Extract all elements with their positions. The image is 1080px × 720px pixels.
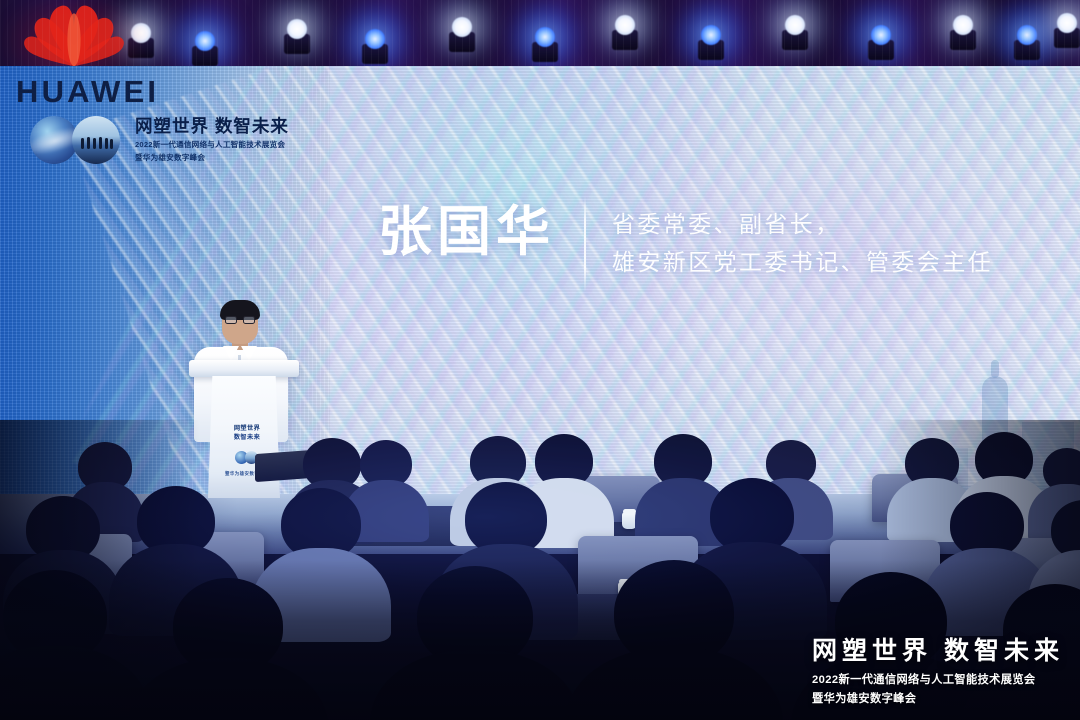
stage-spotlight-icon [610, 10, 640, 40]
huawei-petal-logo-icon [16, 2, 132, 68]
stage-spotlight-icon [190, 26, 220, 56]
stage-spotlight-icon [866, 20, 896, 50]
stage-spotlight-icon [1052, 8, 1080, 38]
stage-spotlight-icon [696, 20, 726, 50]
stage-spotlight-icon [780, 10, 810, 40]
huawei-logo-glow [4, 0, 144, 72]
event-photo-stage: HUAWEI 网塑世界 数智未来 2022新一代通信网络与人工智能技术展览会 暨… [0, 0, 1080, 720]
name-title-divider [584, 196, 586, 292]
event-logo-subtitle-1: 2022新一代通信网络与人工智能技术展览会 [135, 139, 289, 150]
speaker-title-line-1: 省委常委、副省长， [612, 206, 993, 244]
stage-spotlight-icon [126, 18, 156, 48]
podium-top [189, 360, 299, 377]
globe-network-orb-icon [30, 116, 78, 164]
event-logo-subtitle-2: 暨华为雄安数字峰会 [135, 152, 289, 163]
watermark-subtitle-1: 2022新一代通信网络与人工智能技术展览会 [812, 671, 1064, 687]
stage-spotlight-icon [530, 22, 560, 52]
event-logo-title: 网塑世界 数智未来 [135, 117, 289, 136]
speaker-title-block: 省委常委、副省长， 雄安新区党工委书记、管委会主任 [612, 206, 993, 282]
speaker-name-block: 张国华 [378, 205, 555, 259]
watermark-branding: 网塑世界 数智未来 2022新一代通信网络与人工智能技术展览会 暨华为雄安数字峰… [812, 637, 1064, 706]
stage-ceiling-truss [0, 0, 1080, 72]
stage-spotlight-icon [282, 14, 312, 44]
watermark-subtitle-2: 暨华为雄安数字峰会 [812, 690, 1064, 706]
stage-spotlight-icon [948, 10, 978, 40]
watermark-title: 网塑世界 数智未来 [812, 637, 1064, 666]
huawei-wordmark: HUAWEI [16, 74, 159, 110]
glasses-icon [225, 316, 255, 324]
speaker-title-line-2: 雄安新区党工委书记、管委会主任 [612, 244, 993, 282]
stage-spotlight-icon [1012, 20, 1042, 50]
event-logo-lockup: 网塑世界 数智未来 2022新一代通信网络与人工智能技术展览会 暨华为雄安数字峰… [30, 116, 289, 164]
city-people-orb-icon [72, 116, 120, 164]
speaker-name: 张国华 [378, 205, 555, 259]
event-logo-orbs [30, 116, 128, 164]
stage-spotlight-icon [447, 12, 477, 42]
stage-spotlight-icon [360, 24, 390, 54]
